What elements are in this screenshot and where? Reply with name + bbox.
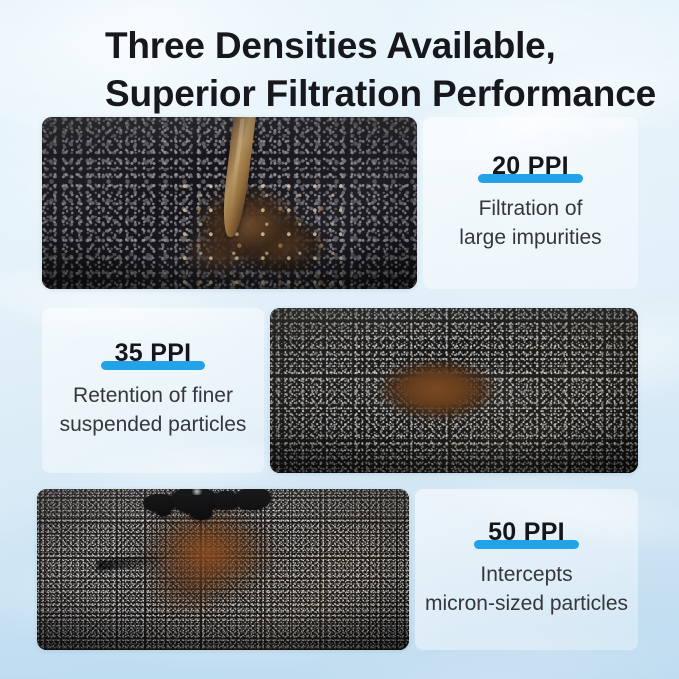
page-title-line-1: Three Densities Available, <box>105 22 665 70</box>
product-infographic: Three Densities Available, Superior Filt… <box>0 0 679 679</box>
feature-card-20ppi: 20 PPI Filtration of large impurities <box>42 117 638 289</box>
feature-card-50ppi: 50 PPI Intercepts micron-sized particles <box>37 489 638 650</box>
ppi-description-line-2: micron-sized particles <box>425 590 628 619</box>
page-title: Three Densities Available, Superior Filt… <box>105 22 665 117</box>
photo-sheen <box>42 117 417 289</box>
ppi-heading-50ppi: 50 PPI <box>482 520 571 545</box>
text-panel-20ppi: 20 PPI Filtration of large impurities <box>423 117 638 289</box>
text-panel-50ppi: 50 PPI Intercepts micron-sized particles <box>415 489 638 650</box>
ppi-description-line-1: Filtration of <box>479 195 583 224</box>
ppi-heading-20ppi: 20 PPI <box>486 154 575 179</box>
ppi-description-line-1: Retention of finer <box>73 382 233 411</box>
ppi-description-line-2: large impurities <box>459 224 601 253</box>
ppi-description-line-2: suspended particles <box>60 411 247 440</box>
photo-sheen <box>270 308 638 473</box>
sponge-photo-35ppi <box>270 308 638 473</box>
ppi-heading-35ppi: 35 PPI <box>109 341 198 366</box>
sponge-photo-50ppi <box>37 489 409 650</box>
ppi-description-line-1: Intercepts <box>480 561 572 590</box>
photo-sheen <box>37 489 409 650</box>
sponge-photo-20ppi <box>42 117 417 289</box>
text-panel-35ppi: 35 PPI Retention of finer suspended part… <box>42 308 264 473</box>
page-title-line-2: Superior Filtration Performance <box>105 70 665 118</box>
ppi-value-label: 35 PPI <box>109 341 198 366</box>
feature-card-35ppi: 35 PPI Retention of finer suspended part… <box>42 308 638 473</box>
ppi-value-label: 50 PPI <box>482 520 571 545</box>
ppi-value-label: 20 PPI <box>486 154 575 179</box>
